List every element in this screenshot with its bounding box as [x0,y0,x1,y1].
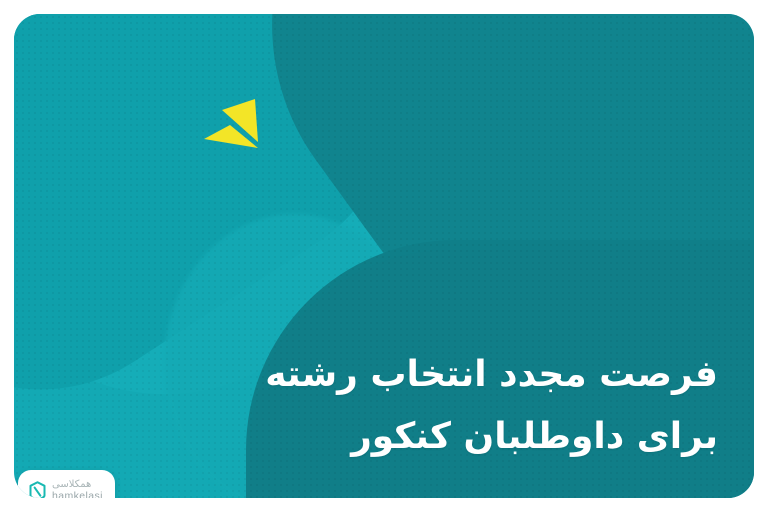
banner-card: فرصت مجدد انتخاب رشته برای داوطلبان کنکو… [14,14,754,498]
headline-line-1: فرصت مجدد انتخاب رشته [158,344,718,406]
logo-text: همکلاسی hamkelasi [52,480,103,498]
hamkelasi-shield-icon [28,481,47,499]
logo-badge[interactable]: همکلاسی hamkelasi [18,470,115,498]
double-triangle-arrow-icon [200,84,276,160]
banner-canvas: فرصت مجدد انتخاب رشته برای داوطلبان کنکو… [0,0,768,512]
logo-name-fa: همکلاسی [52,480,91,490]
headline: فرصت مجدد انتخاب رشته برای داوطلبان کنکو… [158,344,718,468]
logo-name-en: hamkelasi [52,491,103,498]
headline-line-2: برای داوطلبان کنکور [158,406,718,468]
